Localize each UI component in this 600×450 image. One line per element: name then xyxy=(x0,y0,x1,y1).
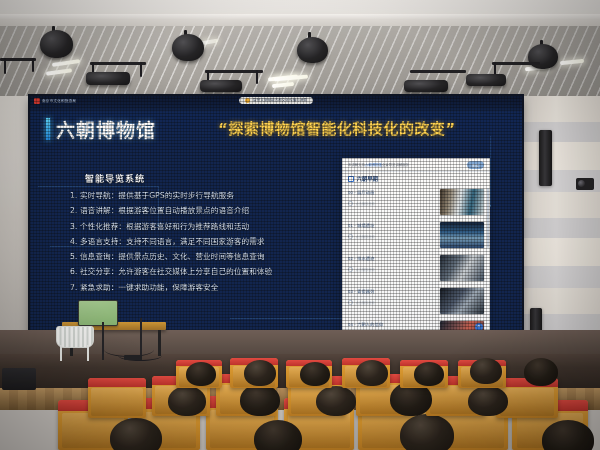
lecture-hall-photo: 南京市文化和旅游局 智慧文旅赋能古都文化传播与消费 六朝博物馆 “探索博物馆智能… xyxy=(0,0,600,450)
audience-head-13 xyxy=(356,360,388,386)
truss-hanger-6 xyxy=(256,70,258,84)
audience-head-12 xyxy=(300,362,330,386)
audience-head-9 xyxy=(468,386,508,416)
audience-head-6 xyxy=(240,384,280,416)
audience-head-11 xyxy=(244,360,276,386)
panel-section-title: 六朝早期 xyxy=(348,175,378,183)
truss-hanger-1 xyxy=(4,58,6,74)
screen-logo: 南京市文化和旅游局 xyxy=(34,98,76,104)
screen-center-banner-text: 智慧文旅赋能古都文化传播与消费 xyxy=(253,98,307,103)
panel-scrollbar[interactable] xyxy=(487,188,489,248)
ceiling-truss-5 xyxy=(492,62,540,65)
hanging-fixture-3 xyxy=(404,80,448,92)
ceiling-soffit xyxy=(0,0,600,26)
laptop-screen xyxy=(78,300,118,326)
play-radio-icon[interactable] xyxy=(348,201,353,206)
audience-head-3 xyxy=(400,414,454,450)
chair-leg-1 xyxy=(60,345,62,361)
slide-bullet-list: 1. 实时导航：提供基于GPS的实时步行导航服务 2. 语音讲解：根据游客位置自… xyxy=(70,188,370,295)
chair-leg-2 xyxy=(87,345,89,361)
slide-heading: 智能导览系统 xyxy=(85,172,145,185)
thumb-drainage[interactable] xyxy=(440,255,484,281)
par-light-3 xyxy=(297,37,328,63)
thumb-exhibit-entrance[interactable] xyxy=(440,189,484,215)
play-radio-icon[interactable] xyxy=(348,234,353,239)
panel-note-prefix: 本讲解支持 xyxy=(348,163,365,167)
screen-logo-text: 南京市文化和旅游局 xyxy=(42,99,76,104)
circuit-line-1 xyxy=(38,186,158,187)
slide-title-main: 六朝博物馆 xyxy=(56,116,156,143)
thumb-celadon[interactable] xyxy=(440,288,484,314)
par-light-4 xyxy=(528,44,558,69)
hanging-fixture-4 xyxy=(466,74,506,86)
list-item: 4. 多语言支持：支持不同语言，满足不同国家游客的需求 xyxy=(70,234,370,249)
audience-head-16 xyxy=(524,358,558,386)
logo-mark-icon xyxy=(34,98,40,104)
list-item: 5. 信息查询：提供景点历史、文化、营业时间等信息查询 xyxy=(70,249,370,264)
list-item: 1. 实时导航：提供基于GPS的实时步行导航服务 xyxy=(70,188,370,203)
list-item: 2. 语音讲解：根据游客位置自动播放景点的语音介绍 xyxy=(70,203,370,218)
hanging-fixture-1 xyxy=(86,72,130,85)
audio-guide-panel: 本讲解支持六朝博物馆全景导览讲解服务 购买 六朝早期 00 - 展厅动画 点击播… xyxy=(342,158,490,354)
audio-track-list: 00 - 展厅动画 点击播放音频 01 - 城墙遗址 点击播放音频 xyxy=(342,186,490,351)
thumb-city-wall[interactable] xyxy=(440,222,484,248)
sun-icon xyxy=(245,98,250,103)
list-item: 7. 紧急求助：一键求助功能，保障游客安全 xyxy=(70,280,370,295)
ceiling-truss-2 xyxy=(90,62,146,65)
ceiling-edge-trim xyxy=(0,14,600,20)
par-light-1 xyxy=(40,30,73,58)
truss-hanger-2 xyxy=(32,58,34,72)
list-item: 6. 社交分享：允许游客在社交媒体上分享自己的位置和体验 xyxy=(70,264,370,279)
list-item: 3. 个性化推荐：根据游客喜好和行为推荐路线和活动 xyxy=(70,219,370,234)
floor-power-box xyxy=(124,355,142,360)
list-item[interactable]: 00 - 展厅动画 点击播放音频 xyxy=(342,186,490,219)
mic-stand xyxy=(102,322,104,360)
par-light-2 xyxy=(172,34,204,61)
list-item[interactable]: 01 - 城墙遗址 点击播放音频 xyxy=(342,219,490,252)
panel-divider xyxy=(342,171,490,172)
screen-center-banner: 智慧文旅赋能古都文化传播与消费 xyxy=(239,97,313,104)
track-sub: 点击播放音频 xyxy=(356,267,375,272)
track-sub: 点击播放音频 xyxy=(356,300,375,305)
audience-head-1 xyxy=(110,418,162,450)
panel-note-suffix: 全景导览讲解服务 xyxy=(382,163,409,167)
wall-speaker xyxy=(539,130,552,186)
audience-head-5 xyxy=(168,386,206,416)
hanging-fixture-2 xyxy=(200,80,242,92)
audience-head-15 xyxy=(470,358,502,384)
play-radio-icon[interactable] xyxy=(348,300,353,305)
list-icon xyxy=(348,176,354,182)
ceiling-truss-3 xyxy=(205,70,263,73)
ptz-camera-icon xyxy=(576,178,594,190)
track-sub: 点击播放音频 xyxy=(356,234,375,239)
stage-monitor xyxy=(2,368,36,390)
seat-row2-0 xyxy=(88,378,146,418)
white-chair xyxy=(56,326,92,360)
panel-section-title-text: 六朝早期 xyxy=(357,175,379,183)
play-radio-icon[interactable] xyxy=(348,267,353,272)
title-accent-bar xyxy=(46,118,50,140)
audience-head-2 xyxy=(254,420,302,450)
list-item[interactable]: 03 - 青瓷器列 点击播放音频 xyxy=(342,285,490,318)
track-sub: 点击播放音频 xyxy=(356,201,375,206)
buy-button[interactable]: 购买 xyxy=(467,161,484,169)
audience-head-7 xyxy=(316,386,356,416)
list-item[interactable]: 02 - 排水遗迹 点击播放音频 xyxy=(342,252,490,285)
audience-head-14 xyxy=(414,362,444,386)
slide-title-sub: “探索博物馆智能化科技化的改变” xyxy=(218,118,456,139)
audience-head-10 xyxy=(186,362,216,386)
ceiling-truss-4 xyxy=(410,70,466,73)
truss-hanger-4 xyxy=(140,62,142,77)
panel-note-link[interactable]: 六朝博物馆 xyxy=(365,163,382,167)
panel-note: 本讲解支持六朝博物馆全景导览讲解服务 xyxy=(348,162,409,167)
